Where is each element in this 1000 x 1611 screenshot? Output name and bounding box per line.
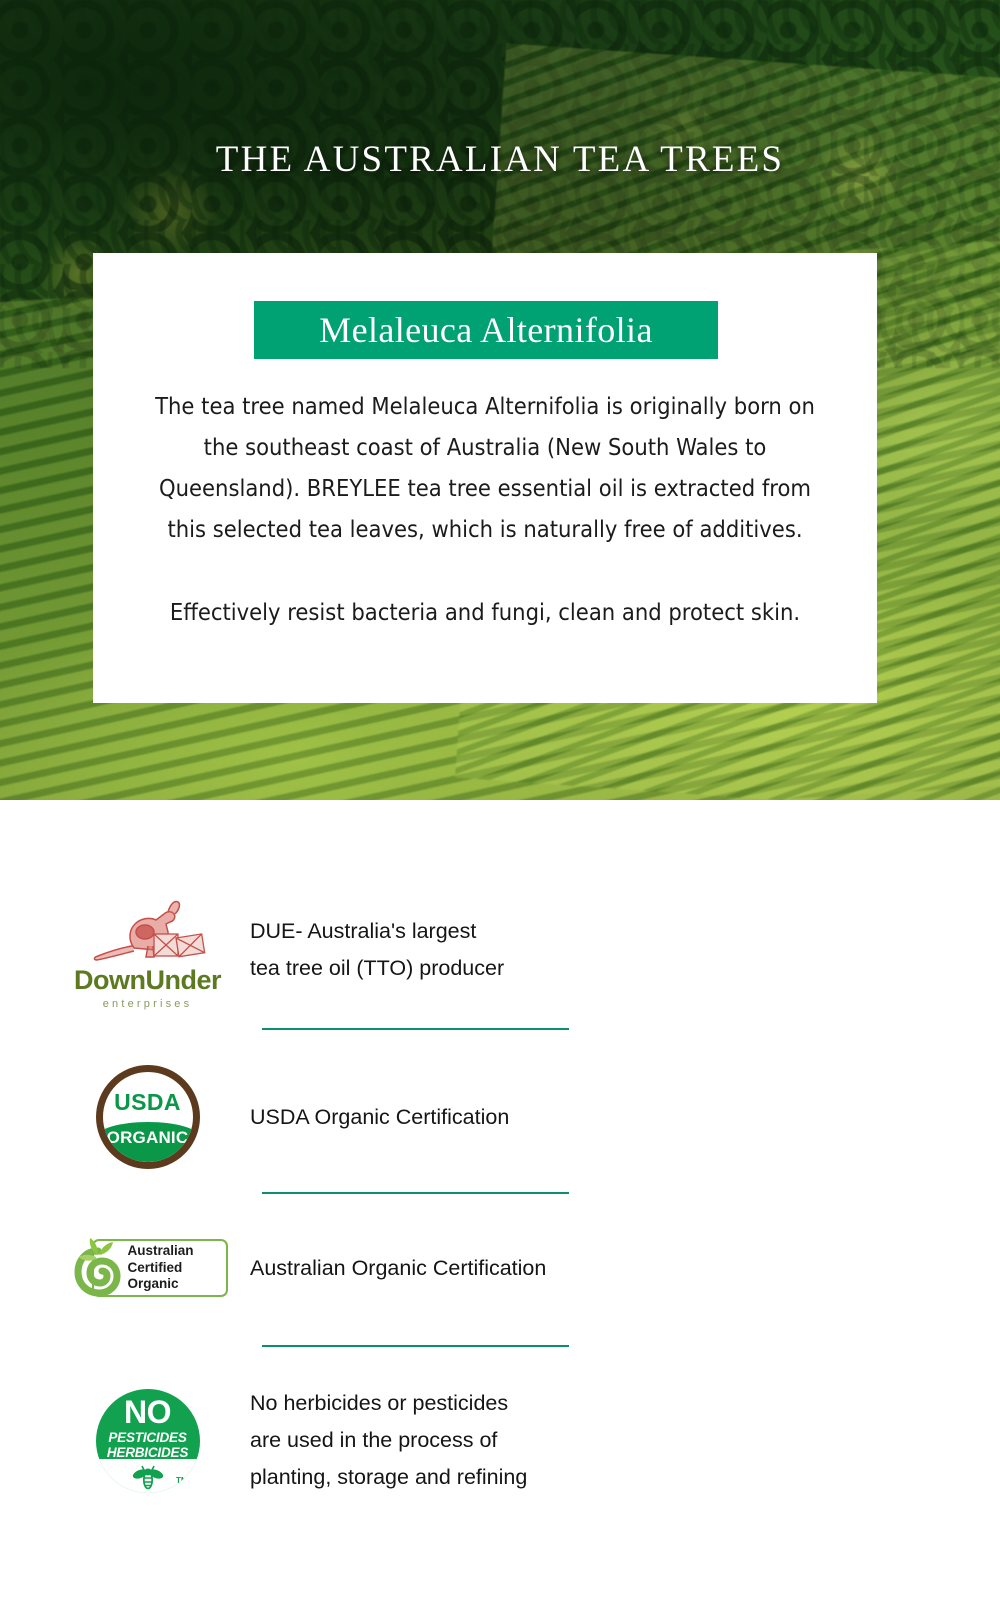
downunder-tagline: enterprises (55, 998, 240, 1010)
feature-text-aco: Australian Organic Certification (240, 1250, 546, 1287)
page-title: THE AUSTRALIAN TEA TREES (0, 138, 1000, 181)
info-paragraph: The tea tree named Melaleuca Alternifoli… (155, 386, 815, 550)
info-tagline: Effectively resist bacteria and fungi, c… (155, 592, 815, 633)
pesticides-label: PESTICIDES (96, 1431, 200, 1445)
divider (262, 1345, 569, 1347)
aco-wordmark: Australian Certified Organic (128, 1243, 194, 1293)
feature-row: USDA ORGANIC USDA Organic Certification (55, 1065, 630, 1169)
species-badge: Melaleuca Alternifolia (254, 301, 718, 359)
downunder-enterprises-logo: DownUnder enterprises (55, 890, 240, 1010)
aco-line-1: Australian (128, 1243, 194, 1260)
feature-text-no-pesticides: No herbicides or pesticides are used in … (240, 1385, 527, 1496)
feature-text-downunder: DUE- Australia's largest tea tree oil (T… (240, 913, 504, 987)
trademark-symbol: TM (176, 1476, 188, 1485)
feature-row: Australian Certified Organic Australian … (55, 1235, 630, 1301)
aco-spiral-leaf-icon (68, 1235, 130, 1301)
organic-label: ORGANIC (103, 1128, 193, 1148)
feature-row: DownUnder enterprises DUE- Australia's l… (55, 890, 630, 1010)
feature-row: NO PESTICIDES HERBICIDES (55, 1385, 630, 1496)
hero-section: THE AUSTRALIAN TEA TREES Melaleuca Alter… (0, 0, 1000, 800)
species-badge-label: Melaleuca Alternifolia (319, 312, 653, 348)
info-card: Melaleuca Alternifolia The tea tree name… (93, 253, 877, 703)
aco-line-2: Certified (128, 1260, 194, 1277)
certifications-section: DownUnder enterprises DUE- Australia's l… (0, 800, 1000, 1611)
product-detail-page: THE AUSTRALIAN TEA TREES Melaleuca Alter… (0, 0, 1000, 1611)
aco-line-3: Organic (128, 1276, 194, 1293)
herbicides-label: HERBICIDES (96, 1446, 200, 1460)
feature-text-usda: USDA Organic Certification (240, 1099, 509, 1136)
divider (262, 1192, 569, 1194)
usda-organic-seal: USDA ORGANIC (55, 1065, 240, 1169)
bee-icon (128, 1461, 168, 1491)
australian-certified-organic-logo: Australian Certified Organic (55, 1235, 240, 1301)
usda-label: USDA (103, 1089, 193, 1116)
no-label: NO (96, 1396, 200, 1428)
kangaroo-crates-illustration (88, 890, 208, 964)
info-card-body: The tea tree named Melaleuca Alternifoli… (155, 386, 815, 633)
downunder-wordmark: DownUnder (55, 967, 240, 994)
no-pesticides-herbicides-badge: NO PESTICIDES HERBICIDES (55, 1389, 240, 1493)
divider (262, 1028, 569, 1030)
